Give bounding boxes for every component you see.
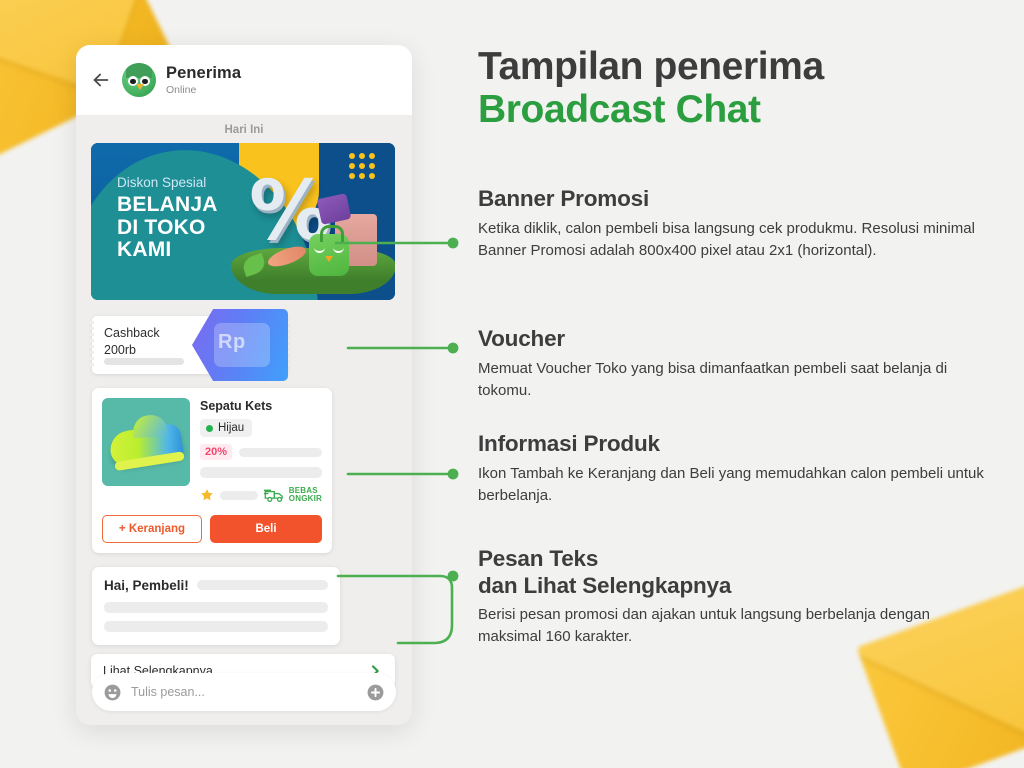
message-placeholder-bar-2 (104, 602, 328, 613)
truck-icon (264, 488, 286, 503)
voucher-card[interactable]: Cashback 200rb Rp (92, 316, 288, 374)
variant-label: Hijau (218, 422, 244, 434)
headline-line-1: Tampilan penerima (478, 46, 998, 89)
voucher-placeholder-bar (104, 358, 184, 365)
owl-mascot-icon (309, 234, 349, 276)
day-divider: Hari Ini (92, 115, 396, 143)
product-variant-chip: Hijau (200, 419, 252, 437)
headline-line-2: Broadcast Chat (478, 89, 998, 132)
free-shipping-badge: BEBAS ONGKIR (264, 487, 322, 504)
dot-grid-decor (349, 153, 383, 179)
avatar[interactable] (122, 63, 156, 97)
voucher-label: Cashback 200rb (104, 325, 160, 359)
section-title: Informasi Produk (478, 431, 988, 458)
section-informasi-produk: Informasi Produk Ikon Tambah ke Keranjan… (478, 431, 988, 507)
message-composer[interactable] (92, 673, 396, 711)
emoji-smiley-icon[interactable] (103, 683, 122, 702)
chat-body: Hari Ini % Diskon Spesial (76, 115, 412, 725)
product-image[interactable] (102, 398, 190, 486)
banner-title-line3: KAMI (117, 239, 218, 262)
greeting-text: Hai, Pembeli! (104, 578, 189, 593)
product-actions: + Keranjang Beli (102, 515, 322, 543)
content-column: Tampilan penerima Broadcast Chat Banner … (478, 46, 998, 162)
message-input[interactable] (131, 685, 357, 699)
product-meta-row: BEBAS ONGKIR (200, 487, 322, 504)
rating-placeholder-bar (220, 491, 258, 500)
price-placeholder-bar (239, 448, 322, 457)
variant-swatch-icon (206, 425, 213, 432)
message-placeholder-bar-3 (104, 621, 328, 632)
promo-banner[interactable]: % Diskon Spesial BELANJA DI TOKO KAMI (91, 143, 395, 300)
voucher-artwork: Rp (192, 309, 288, 381)
star-icon (200, 488, 214, 502)
chat-contact-block: Penerima Online (166, 64, 241, 96)
voucher-label-line1: Cashback (104, 325, 160, 342)
arrow-left-icon[interactable] (90, 69, 112, 91)
chat-header: Penerima Online (76, 45, 412, 115)
product-card[interactable]: Sepatu Kets Hijau 20% (92, 388, 332, 553)
section-body: Memuat Voucher Toko yang bisa dimanfaatk… (478, 358, 978, 402)
plus-circle-icon[interactable] (366, 683, 385, 702)
phone-chat-mockup: Penerima Online Hari Ini % (76, 45, 412, 725)
contact-status: Online (166, 84, 241, 96)
price-row: 20% (200, 444, 322, 460)
product-name: Sepatu Kets (200, 399, 322, 413)
section-title-line2: dan Lihat Selengkapnya (478, 573, 958, 600)
banner-title: BELANJA DI TOKO KAMI (117, 194, 218, 262)
message-placeholder-bar (197, 580, 328, 590)
connector-dot-banner (448, 238, 459, 249)
section-title-line1: Pesan Teks (478, 546, 958, 573)
connector-dot-message (448, 571, 459, 582)
banner-title-line1: BELANJA (117, 194, 218, 217)
section-title: Pesan Teks dan Lihat Selengkapnya (478, 546, 958, 599)
product-top-row: Sepatu Kets Hijau 20% (102, 398, 322, 504)
shipping-line2: ONGKIR (289, 494, 322, 503)
currency-label: Rp (218, 331, 246, 354)
section-title: Voucher (478, 326, 978, 353)
section-banner-promosi: Banner Promosi Ketika diklik, calon pemb… (478, 186, 988, 262)
page-title: Tampilan penerima Broadcast Chat (478, 46, 998, 132)
free-shipping-text: BEBAS ONGKIR (289, 487, 322, 504)
section-voucher: Voucher Memuat Voucher Toko yang bisa di… (478, 326, 978, 402)
contact-name: Penerima (166, 64, 241, 83)
section-body: Ikon Tambah ke Keranjang dan Beli yang m… (478, 463, 988, 507)
product-info: Sepatu Kets Hijau 20% (200, 398, 322, 504)
connector-dot-product (448, 469, 459, 480)
buy-button[interactable]: Beli (210, 515, 322, 543)
banner-subtitle: Diskon Spesial (117, 175, 218, 190)
voucher-label-line2: 200rb (104, 342, 160, 359)
connector-dot-voucher (448, 343, 459, 354)
price-placeholder-bar-2 (200, 467, 322, 478)
section-pesan-teks: Pesan Teks dan Lihat Selengkapnya Berisi… (478, 546, 958, 648)
section-title: Banner Promosi (478, 186, 988, 213)
discount-badge: 20% (200, 444, 232, 460)
banner-text-block: Diskon Spesial BELANJA DI TOKO KAMI (117, 175, 218, 262)
banner-title-line2: DI TOKO (117, 217, 218, 240)
section-body: Berisi pesan promosi dan ajakan untuk la… (478, 604, 958, 648)
slide-canvas: Penerima Online Hari Ini % (0, 0, 1024, 768)
text-message-bubble[interactable]: Hai, Pembeli! (92, 567, 340, 645)
greeting-row: Hai, Pembeli! (104, 578, 328, 593)
add-to-cart-button[interactable]: + Keranjang (102, 515, 202, 543)
section-body: Ketika diklik, calon pembeli bisa langsu… (478, 218, 988, 262)
